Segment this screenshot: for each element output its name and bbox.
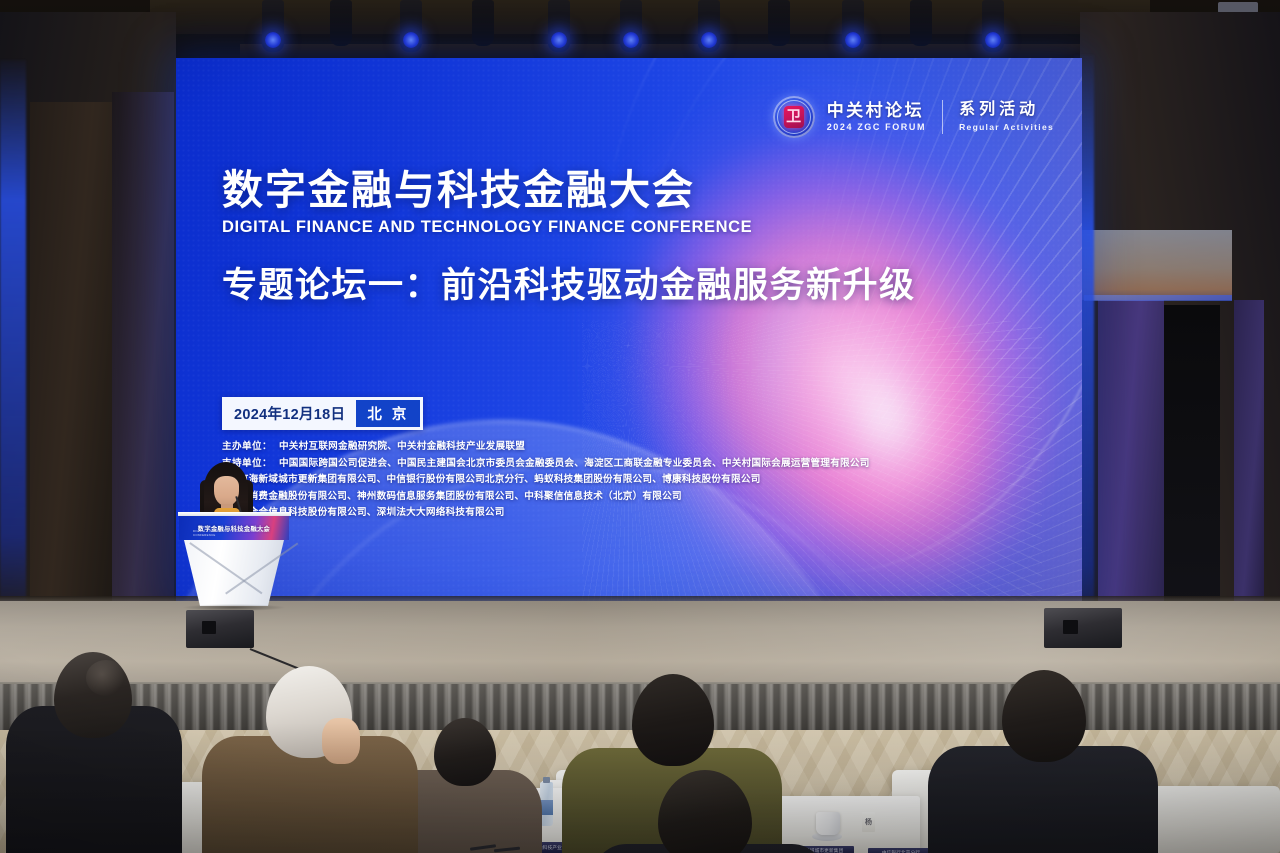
- wall-panel: [112, 92, 174, 632]
- wall-left: [0, 12, 176, 672]
- logo-divider: [942, 100, 943, 134]
- zgc-emblem-icon: 卫: [773, 96, 815, 138]
- monitor-grille: [202, 621, 216, 634]
- zgc-forum-logo: 卫 中关村论坛 2024 ZGC FORUM 系列活动 Regular Acti…: [773, 96, 1054, 138]
- stage-light-icon: [400, 0, 422, 52]
- credit-text: 中关村互联网金融研究院、中关村金融科技产业发展联盟: [279, 441, 525, 452]
- credit-row: 支持单位：中国国际跨国公司促进会、中国民主建国会北京市委员会金融委员会、海淀区工…: [222, 456, 870, 473]
- organizer-credits: 主办单位：中关村互联网金融研究院、中关村金融科技产业发展联盟 支持单位：中国国际…: [222, 439, 870, 522]
- bottle-cap: [543, 777, 549, 783]
- credit-text: 中国国际跨国公司促进会、中国民主建国会北京市委员会金融委员会、海淀区工商联金融专…: [279, 458, 870, 469]
- conference-title-en: DIGITAL FINANCE AND TECHNOLOGY FINANCE C…: [222, 218, 916, 237]
- place-card-name: 杨: [865, 817, 872, 827]
- credit-text: 马上消费金融股份有限公司、神州数码信息服务集团股份有限公司、中科聚信信息技术（北…: [229, 491, 682, 502]
- logo-brand-cn: 中关村论坛: [827, 102, 926, 120]
- stage-light-icon: [330, 0, 352, 46]
- podium-brace: [190, 542, 278, 604]
- tea-cup[interactable]: [816, 812, 840, 835]
- wall-panel: [1234, 300, 1264, 620]
- stage-light-icon: [698, 0, 720, 52]
- stage-light-icon: [768, 0, 790, 46]
- stage-monitor-speaker: [1044, 608, 1122, 648]
- side-door[interactable]: [1164, 305, 1220, 620]
- stage-light-icon: [472, 0, 494, 46]
- podium-banner-en: DIGITAL FINANCE AND TECHNOLOGY FINANCE C…: [193, 529, 289, 537]
- emblem-badge-glyph: 卫: [784, 106, 804, 128]
- wall-panel: [1098, 300, 1164, 620]
- ceiling-rail: [240, 44, 1100, 58]
- credit-row: 马上消费金融股份有限公司、神州数码信息服务集团股份有限公司、中科聚信信息技术（北…: [222, 489, 870, 506]
- conference-stage-photo: 卫 中关村论坛 2024 ZGC FORUM 系列活动 Regular Acti…: [0, 0, 1280, 853]
- podium-banner: 数字金融与科技金融大会 DIGITAL FINANCE AND TECHNOLO…: [179, 516, 289, 540]
- credit-row: 主办单位：中关村互联网金融研究院、中关村金融科技产业发展联盟: [222, 439, 870, 456]
- audience-head: [434, 718, 496, 786]
- stage-light-icon: [262, 0, 284, 52]
- stage-light-icon: [982, 0, 1004, 52]
- wall-light-panel: [1082, 230, 1232, 300]
- credit-row: 北京海新域城市更新集团有限公司、中信银行股份有限公司北京分行、蚂蚁科技集团股份有…: [222, 472, 870, 489]
- credit-row: 上海合合信息科技股份有限公司、深圳法大大网络科技有限公司: [222, 505, 870, 522]
- audience-shoulders: [928, 746, 1158, 853]
- audience-head: [1002, 670, 1086, 762]
- credit-label: 主办单位：: [222, 441, 272, 452]
- wall-accent-light-left: [0, 60, 26, 620]
- audience-hair-highlight: [86, 660, 126, 696]
- audience-hand: [322, 718, 360, 764]
- logo-series-en: Regular Activities: [959, 122, 1054, 132]
- screen-title-block: 数字金融与科技金融大会 DIGITAL FINANCE AND TECHNOLO…: [222, 168, 916, 308]
- audience-head: [632, 674, 714, 766]
- stage-light-icon: [548, 0, 570, 52]
- place-card: 杨: [862, 812, 875, 832]
- name-card-text: 中信银行北京分行: [882, 850, 920, 853]
- event-date: 2024年12月18日: [225, 400, 356, 427]
- wall-trim-light: [1084, 295, 1232, 301]
- led-screen: 卫 中关村论坛 2024 ZGC FORUM 系列活动 Regular Acti…: [176, 58, 1082, 601]
- stage-light-icon: [842, 0, 864, 52]
- delegation-name-card: 中信银行北京分行: [868, 848, 934, 853]
- logo-brand-en: 2024 ZGC FORUM: [827, 122, 926, 132]
- event-city: 北 京: [356, 400, 420, 427]
- credit-text: 北京海新域城市更新集团有限公司、中信银行股份有限公司北京分行、蚂蚁科技集团股份有…: [229, 474, 761, 485]
- stage-light-icon: [910, 0, 932, 46]
- conference-title-cn: 数字金融与科技金融大会: [222, 168, 916, 214]
- forum-subtitle-cn: 专题论坛一：前沿科技驱动金融服务新升级: [222, 257, 916, 308]
- logo-series-cn: 系列活动: [959, 102, 1054, 119]
- stage-monitor-speaker: [186, 610, 254, 648]
- podium: 数字金融与科技金融大会 DIGITAL FINANCE AND TECHNOLO…: [178, 512, 290, 612]
- wall-panel: [30, 102, 112, 622]
- stage-light-icon: [620, 0, 642, 52]
- monitor-grille: [1063, 620, 1079, 634]
- date-location-badge: 2024年12月18日 北 京: [222, 397, 423, 430]
- speaker-face: [214, 476, 239, 506]
